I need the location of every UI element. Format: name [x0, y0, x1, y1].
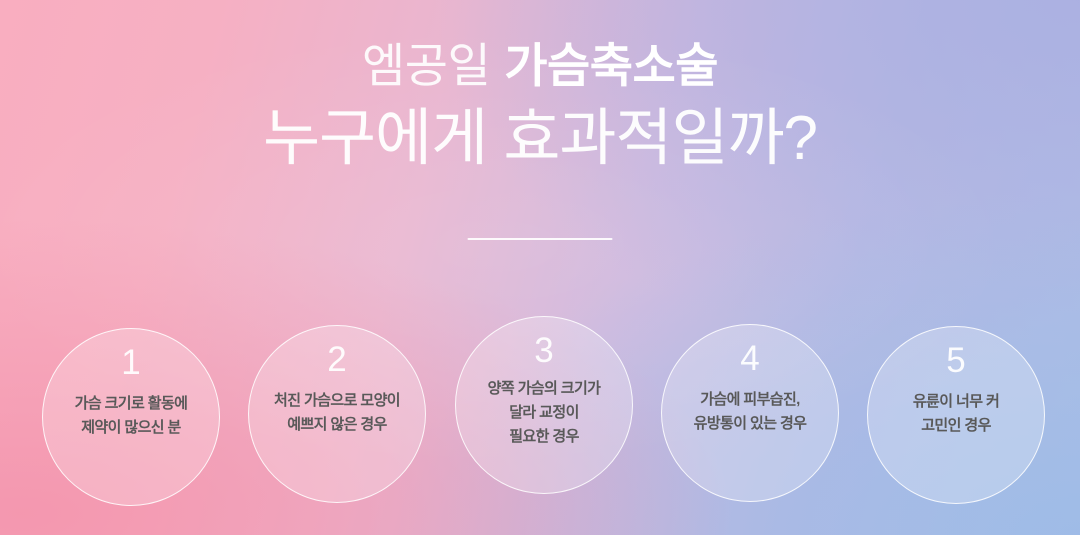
- candidate-label-3-line-2: 달라 교정이: [488, 401, 601, 425]
- candidate-label-1-line-1: 가슴 크기로 활동에: [75, 392, 188, 416]
- candidate-label-4-line-2: 유방통이 있는 경우: [694, 412, 807, 436]
- candidate-label-1-line-2: 제약이 많으신 분: [75, 416, 188, 440]
- candidate-label-3: 양쪽 가슴의 크기가 달라 교정이 필요한 경우: [488, 377, 601, 449]
- candidate-number-1: 1: [121, 345, 140, 381]
- candidate-label-5-line-2: 고민인 경우: [913, 414, 999, 438]
- candidate-number-5: 5: [946, 343, 965, 379]
- candidate-label-2: 처진 가슴으로 모양이 예쁘지 않은 경우: [274, 389, 400, 437]
- candidate-number-4: 4: [740, 341, 759, 377]
- candidate-label-3-line-3: 필요한 경우: [488, 425, 601, 449]
- candidate-circle-1: 1 가슴 크기로 활동에 제약이 많으신 분: [42, 328, 220, 506]
- candidate-circle-3: 3 양쪽 가슴의 크기가 달라 교정이 필요한 경우: [455, 316, 633, 494]
- promo-banner: 엠공일가슴축소술 누구에게 효과적일까? 1 가슴 크기로 활동에 제약이 많으…: [0, 0, 1080, 535]
- candidate-label-3-line-1: 양쪽 가슴의 크기가: [488, 377, 601, 401]
- candidate-circle-2: 2 처진 가슴으로 모양이 예쁘지 않은 경우: [248, 325, 426, 503]
- candidate-number-3: 3: [534, 333, 553, 369]
- candidate-label-2-line-1: 처진 가슴으로 모양이: [274, 389, 400, 413]
- candidate-label-4-line-1: 가슴에 피부습진,: [694, 388, 807, 412]
- candidate-label-5-line-1: 유륜이 너무 커: [913, 390, 999, 414]
- candidate-label-4: 가슴에 피부습진, 유방통이 있는 경우: [694, 388, 807, 436]
- candidate-circle-5: 5 유륜이 너무 커 고민인 경우: [867, 326, 1045, 504]
- candidate-circle-4: 4 가슴에 피부습진, 유방통이 있는 경우: [661, 324, 839, 502]
- candidate-label-2-line-2: 예쁘지 않은 경우: [274, 413, 400, 437]
- candidate-circle-row: 1 가슴 크기로 활동에 제약이 많으신 분 2 처진 가슴으로 모양이 예쁘지…: [0, 0, 1080, 535]
- candidate-label-5: 유륜이 너무 커 고민인 경우: [913, 390, 999, 438]
- candidate-number-2: 2: [327, 342, 346, 378]
- candidate-label-1: 가슴 크기로 활동에 제약이 많으신 분: [75, 392, 188, 440]
